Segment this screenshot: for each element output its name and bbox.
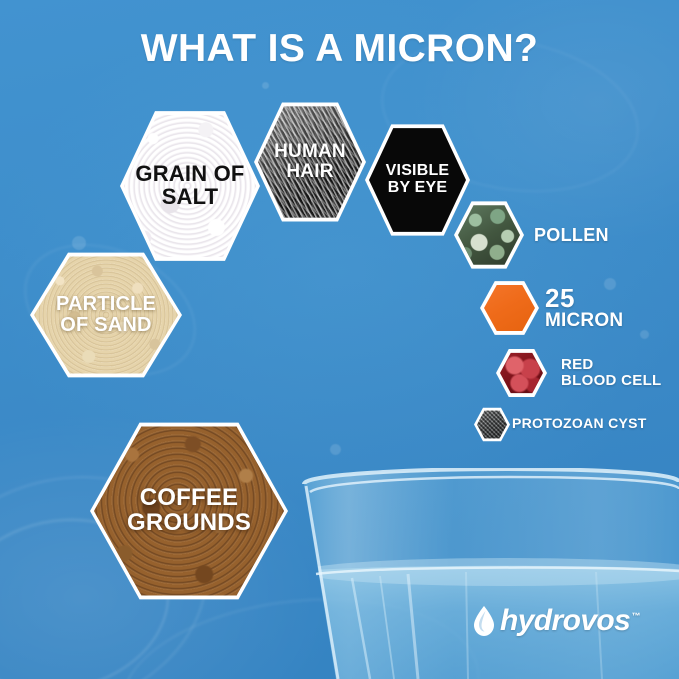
hexagon-particle-of-sand[interactable]: PARTICLE OF SAND [34,254,178,376]
hexagon-label-human-hair: HUMAN HAIR [268,142,352,182]
label-line-2: GROUNDS [127,509,251,536]
side-label-25-micron: 25 MICRON [545,286,623,330]
hexagon-human-hair[interactable]: HUMAN HAIR [258,104,362,220]
micron-number: 25 [545,286,623,311]
bubble-decoration [262,82,269,89]
side-label-red-blood-cell: RED BLOOD CELL [561,357,662,389]
hexagon-texture-sand: PARTICLE OF SAND [34,254,178,376]
hexagon-label-visible-by-eye: VISIBLE BY EYE [380,163,456,196]
hexagon-25-micron[interactable] [484,284,535,332]
hexagon-visible-by-eye[interactable]: VISIBLE BY EYE [369,126,466,234]
hexagon-pollen[interactable] [458,204,520,266]
label-line-2: SALT [162,184,219,209]
label-line-1: COFFEE [140,484,239,511]
side-label-pollen: POLLEN [534,226,609,245]
hexagon-grain-of-salt[interactable]: GRAIN OF SALT [124,112,256,260]
label-line-1: RED [561,356,594,373]
hexagon-red-blood-cell[interactable] [500,352,543,394]
hexagon-protozoan-cyst[interactable] [477,410,507,439]
hexagon-label-coffee-grounds: COFFEE GROUNDS [121,486,257,536]
water-droplet-icon [472,605,496,637]
bubble-decoration [330,444,341,455]
label-line-2: HAIR [286,161,333,182]
label-line-2: BLOOD CELL [561,372,662,389]
logo-name: hydrovos [500,604,630,637]
hexagon-coffee-grounds[interactable]: COFFEE GROUNDS [94,423,284,599]
label-line-1: VISIBLE [386,162,450,179]
label-line-1: PARTICLE [56,293,156,315]
label-line-2: OF SAND [60,314,151,336]
hexagon-texture-coffee: COFFEE GROUNDS [94,423,284,599]
label-line-1: GRAIN OF [135,161,244,186]
infographic-canvas: WHAT IS A MICRON? [0,0,679,679]
hexagon-label-particle-of-sand: PARTICLE OF SAND [50,294,162,336]
glass-of-water-illustration [296,468,679,679]
logo-trademark: ™ [631,611,639,621]
page-title: WHAT IS A MICRON? [0,27,679,71]
bubble-decoration [72,236,86,250]
label-line-2: BY EYE [388,179,448,196]
label-line-1: HUMAN [274,141,346,162]
hydrovos-logo[interactable]: hydrovos™ [472,604,640,638]
side-label-protozoan-cyst: PROTOZOAN CYST [512,416,647,431]
micron-unit: MICRON [545,311,623,330]
logo-wordmark: hydrovos™ [500,606,640,636]
hexagon-texture-salt: GRAIN OF SALT [124,112,256,260]
hexagon-label-grain-of-salt: GRAIN OF SALT [129,163,250,209]
bubble-decoration [640,330,649,339]
